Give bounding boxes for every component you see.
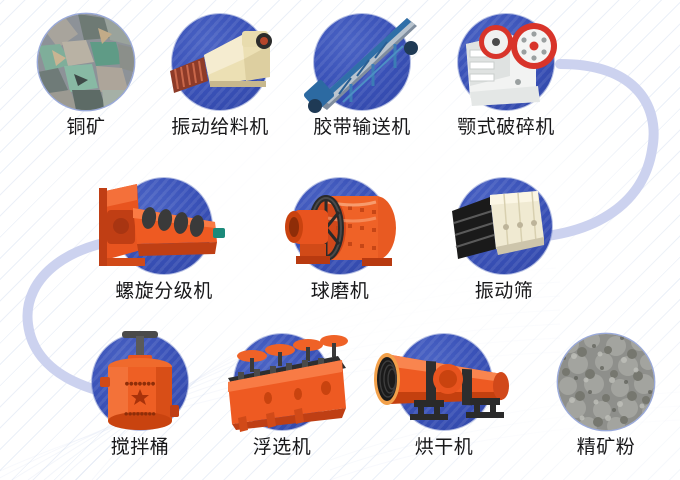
disc-wrap-jaw-crusher — [458, 14, 554, 110]
node-jaw-crusher[interactable]: 颚式破碎机 — [440, 14, 572, 138]
disc-spiral-classifier — [116, 178, 212, 274]
disc-wrap-agitation-tank: ●●●●●●● ●●●●●●●● — [92, 334, 188, 430]
disc-rotary-dryer — [396, 334, 492, 430]
concentrate-powder-photo-icon — [558, 334, 654, 430]
node-copper-ore[interactable]: 铜矿 — [20, 14, 152, 138]
disc-jaw-crusher — [458, 14, 554, 110]
node-label: 搅拌桶 — [74, 437, 206, 458]
node-ball-mill[interactable]: 球磨机 — [274, 178, 406, 302]
node-label: 精矿粉 — [540, 437, 672, 458]
node-flotation-machine[interactable]: 浮选机 — [216, 334, 348, 458]
process-flow-diagram: 铜矿 振动给料机 — [0, 0, 680, 480]
node-agitation-tank[interactable]: ●●●●●●● ●●●●●●●● 搅拌桶 — [74, 334, 206, 458]
disc-wrap-concentrate-powder — [558, 334, 654, 430]
node-label: 铜矿 — [20, 117, 152, 138]
disc-copper-ore — [38, 14, 134, 110]
node-label: 球磨机 — [274, 281, 406, 302]
node-spiral-classifier[interactable]: 螺旋分级机 — [98, 178, 230, 302]
disc-wrap-spiral-classifier — [116, 178, 212, 274]
disc-wrap-flotation-machine — [234, 334, 330, 430]
node-label: 螺旋分级机 — [98, 281, 230, 302]
node-label: 振动筛 — [438, 281, 570, 302]
node-concentrate-powder[interactable]: 精矿粉 — [540, 334, 672, 458]
disc-vibrating-feeder — [172, 14, 268, 110]
node-vibrating-feeder[interactable]: 振动给料机 — [154, 14, 286, 138]
node-rotary-dryer[interactable]: 烘干机 — [378, 334, 510, 458]
disc-concentrate-powder — [558, 334, 654, 430]
disc-agitation-tank — [92, 334, 188, 430]
disc-flotation-machine — [234, 334, 330, 430]
disc-vibrating-screen — [456, 178, 552, 274]
node-belt-conveyor[interactable]: 胶带输送机 — [296, 14, 428, 138]
node-label: 胶带输送机 — [296, 117, 428, 138]
node-label: 烘干机 — [378, 437, 510, 458]
node-vibrating-screen[interactable]: 振动筛 — [438, 178, 570, 302]
disc-wrap-ball-mill — [292, 178, 388, 274]
disc-wrap-vibrating-feeder — [172, 14, 268, 110]
disc-wrap-belt-conveyor — [314, 14, 410, 110]
disc-wrap-rotary-dryer — [396, 334, 492, 430]
node-label: 振动给料机 — [154, 117, 286, 138]
node-label: 颚式破碎机 — [440, 117, 572, 138]
node-label: 浮选机 — [216, 437, 348, 458]
copper-ore-photo-icon — [38, 14, 134, 110]
disc-wrap-copper-ore — [38, 14, 134, 110]
disc-belt-conveyor — [314, 14, 410, 110]
disc-ball-mill — [292, 178, 388, 274]
disc-wrap-vibrating-screen — [456, 178, 552, 274]
